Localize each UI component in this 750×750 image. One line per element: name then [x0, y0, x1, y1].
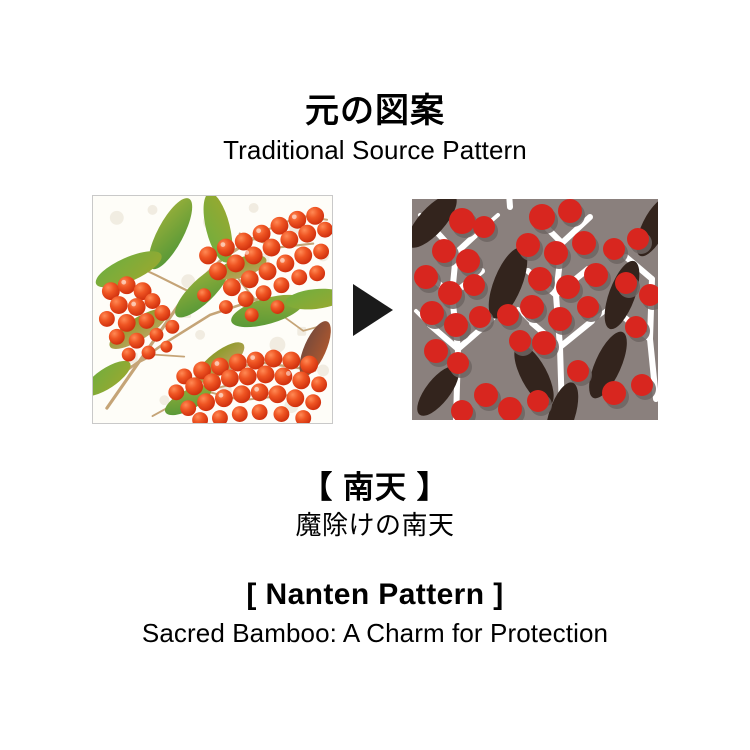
triangle-right-icon [353, 284, 393, 336]
pattern-name-japanese: 【 南天 】 [295, 472, 454, 503]
result-pattern-image [412, 199, 658, 420]
result-pattern-artwork [412, 199, 658, 420]
pattern-description-english: Sacred Bamboo: A Charm for Protection [142, 620, 608, 646]
caption-english: [ Nanten Pattern ] Sacred Bamboo: A Char… [142, 580, 608, 646]
page-title-japanese: 元の図案 [223, 92, 527, 130]
comparison-row [92, 195, 658, 424]
source-pattern-artwork [93, 196, 332, 423]
pattern-description-japanese: 魔除けの南天 [295, 512, 454, 538]
source-pattern-image [92, 195, 333, 424]
transform-arrow [333, 195, 412, 424]
poster-root: 元の図案 Traditional Source Pattern [0, 0, 750, 750]
pattern-name-english: [ Nanten Pattern ] [142, 580, 608, 610]
header: 元の図案 Traditional Source Pattern [223, 92, 527, 163]
page-subtitle-english: Traditional Source Pattern [223, 137, 527, 163]
caption-japanese: 【 南天 】 魔除けの南天 [295, 472, 454, 538]
